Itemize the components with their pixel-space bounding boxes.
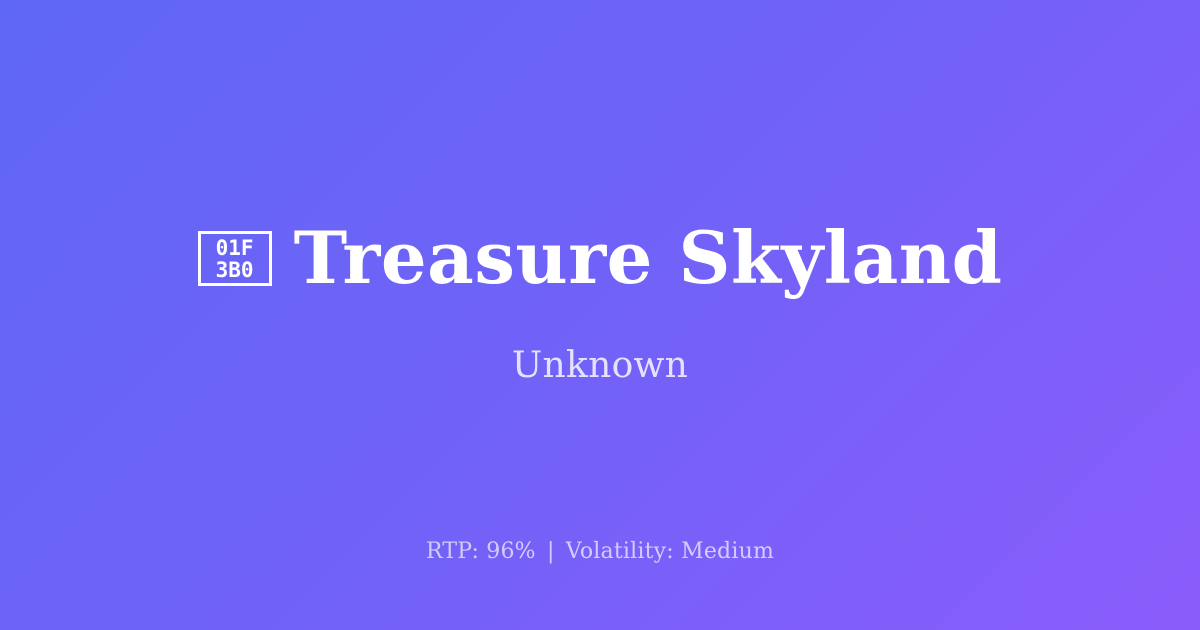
tofu-codepoint-top: 01F	[216, 237, 254, 259]
game-meta-footer: RTP: 96% | Volatility: Medium	[0, 539, 1200, 564]
slot-machine-emoji-tofu-icon: 01F 3B0	[198, 231, 272, 286]
rtp-label: RTP:	[426, 539, 479, 564]
meta-separator: |	[543, 539, 559, 564]
title-row: 01F 3B0 Treasure Skyland	[198, 220, 1003, 296]
volatility-label: Volatility:	[566, 539, 674, 564]
hero-block: 01F 3B0 Treasure Skyland Unknown	[0, 0, 1200, 630]
tofu-codepoint-bottom: 3B0	[216, 259, 254, 281]
game-title: Treasure Skyland	[294, 220, 1003, 296]
game-preview-card: 01F 3B0 Treasure Skyland Unknown RTP: 96…	[0, 0, 1200, 630]
volatility-value: Medium	[681, 539, 774, 564]
game-provider: Unknown	[512, 345, 688, 386]
rtp-value: 96%	[486, 539, 536, 564]
